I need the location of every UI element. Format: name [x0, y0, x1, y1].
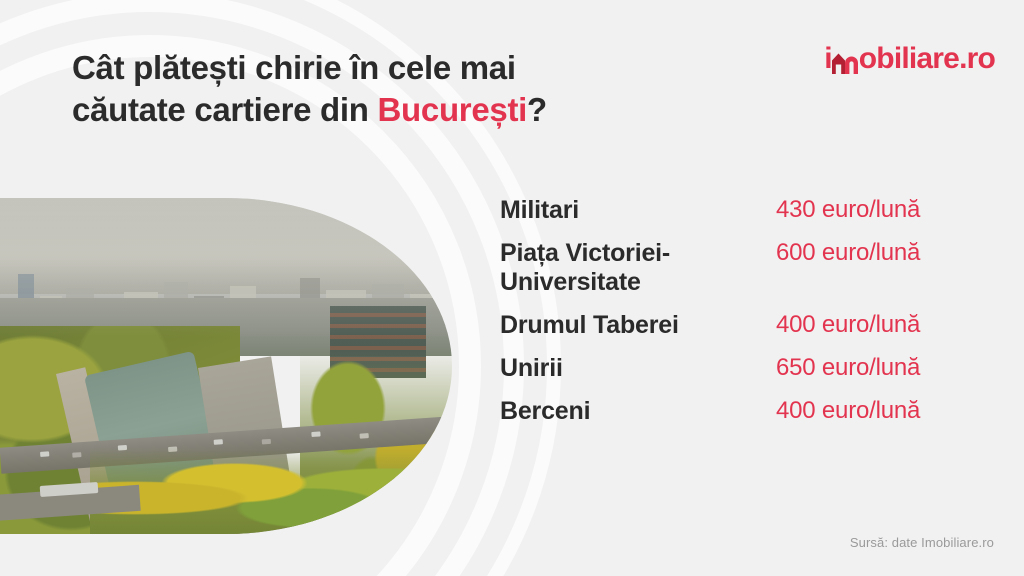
- tree-canopy-bottom: [90, 448, 452, 534]
- list-item: Piața Victoriei-Universitate 600 euro/lu…: [500, 239, 980, 297]
- title-line-1: Cât plătești chirie în cele mai: [72, 49, 516, 86]
- district-name-line-1: Piața Victoriei-: [500, 239, 670, 267]
- district-name-line-1: Militari: [500, 196, 579, 224]
- district-price: 650 euro/lună: [776, 354, 920, 383]
- district-price: 400 euro/lună: [776, 397, 920, 426]
- district-name-line-1: Berceni: [500, 397, 590, 425]
- title-highlight-bucuresti: București: [378, 91, 528, 128]
- title-line-2-prefix: căutate cartiere din: [72, 91, 378, 128]
- rent-price-list: Militari 430 euro/lună Piața Victoriei-U…: [500, 196, 980, 426]
- district-name: Piața Victoriei-Universitate: [500, 239, 776, 297]
- logo-prefix: i: [824, 44, 832, 74]
- district-name: Unirii: [500, 354, 776, 383]
- list-item: Berceni 400 euro/lună: [500, 397, 980, 426]
- district-name-line-2: Universitate: [500, 268, 641, 296]
- infographic-canvas: Cât plătești chirie în cele maicăutate c…: [0, 0, 1024, 576]
- list-item: Drumul Taberei 400 euro/lună: [500, 311, 980, 340]
- title-suffix: ?: [527, 91, 547, 128]
- district-name-line-1: Unirii: [500, 354, 563, 382]
- logo-suffix: obiliare.ro: [859, 44, 995, 74]
- list-item: Militari 430 euro/lună: [500, 196, 980, 225]
- district-price: 600 euro/lună: [776, 239, 920, 268]
- list-item: Unirii 650 euro/lună: [500, 354, 980, 383]
- district-name: Berceni: [500, 397, 776, 426]
- house-icon: [832, 52, 858, 74]
- page-title: Cât plătești chirie în cele maicăutate c…: [72, 47, 712, 131]
- district-price: 400 euro/lună: [776, 311, 920, 340]
- source-attribution: Sursă: date Imobiliare.ro: [850, 535, 994, 550]
- district-name: Drumul Taberei: [500, 311, 776, 340]
- district-price: 430 euro/lună: [776, 196, 920, 225]
- imobiliare-logo[interactable]: iobiliare.ro: [824, 44, 995, 74]
- photo-content: [0, 198, 452, 534]
- district-name-line-1: Drumul Taberei: [500, 311, 679, 339]
- bucharest-photo: [0, 198, 452, 534]
- district-name: Militari: [500, 196, 776, 225]
